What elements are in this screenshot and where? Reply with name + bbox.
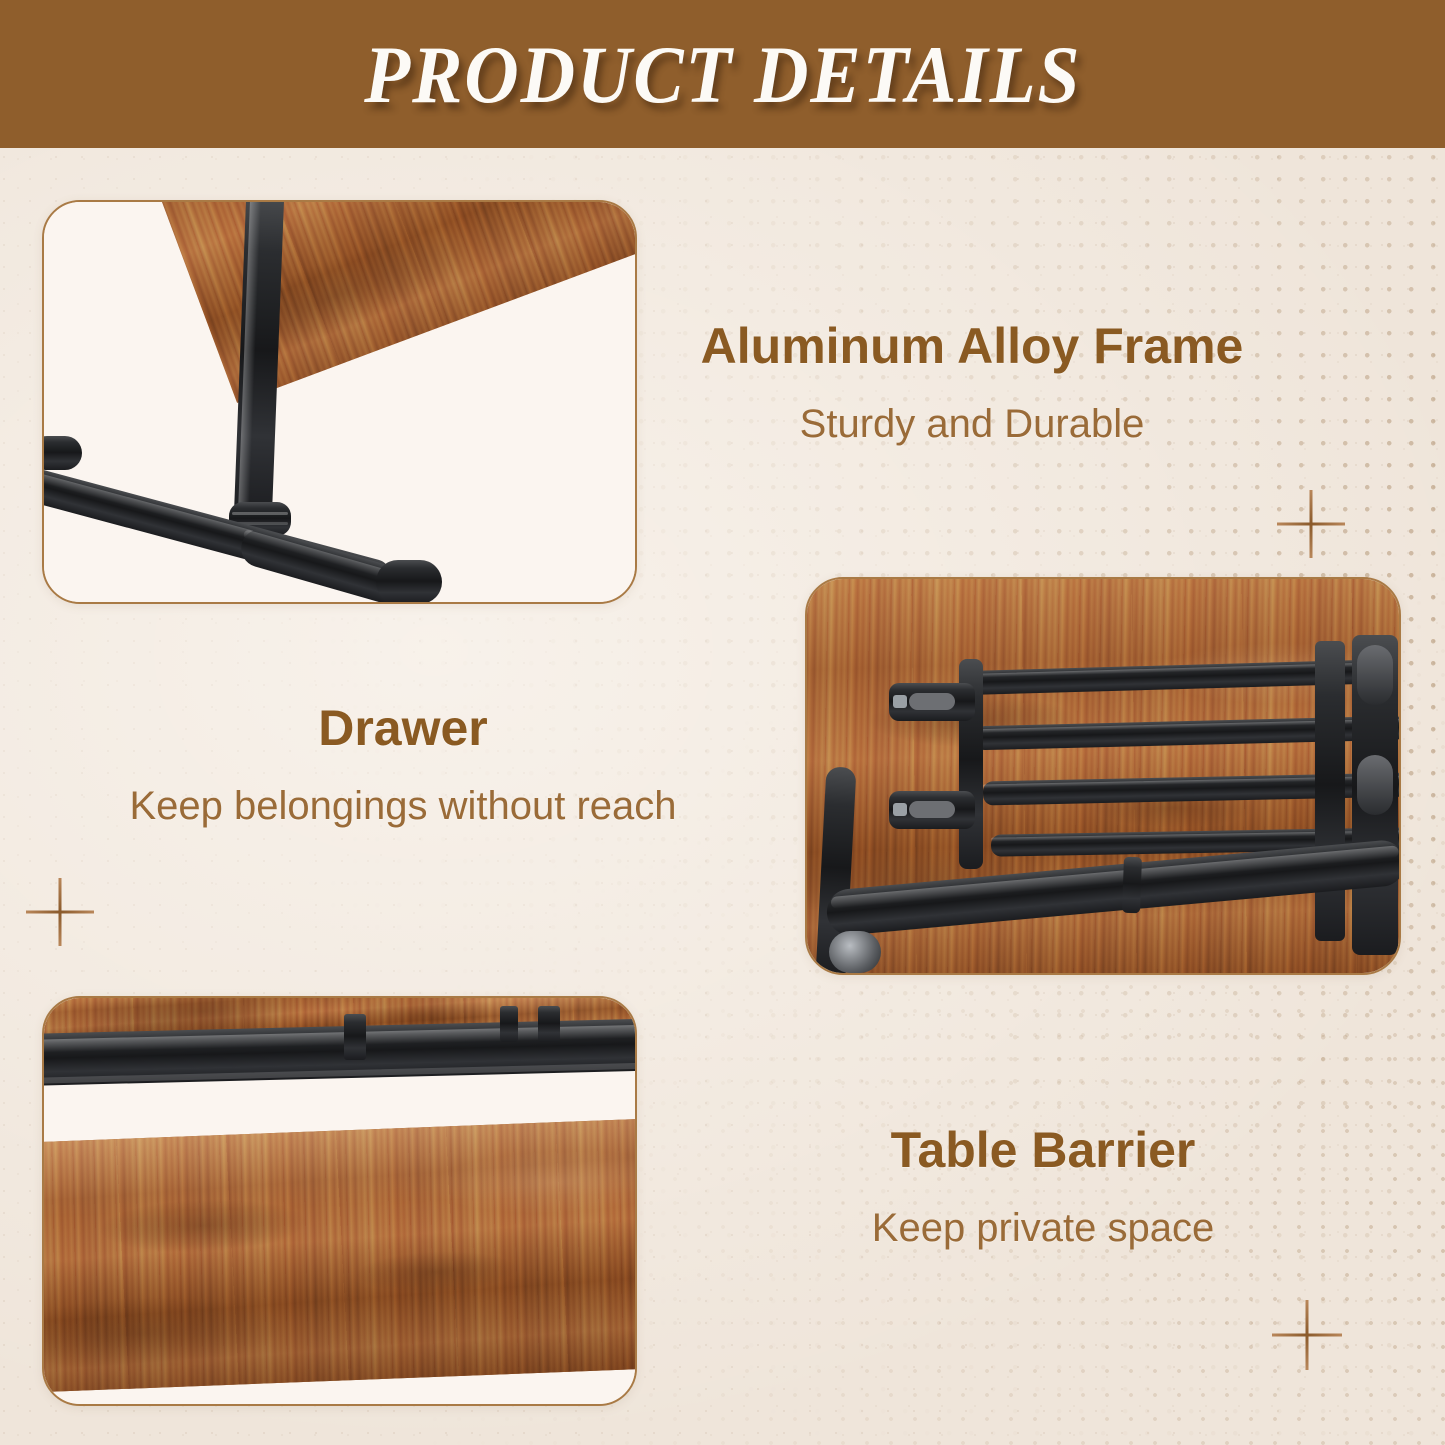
feature-subheading: Keep belongings without reach [22,782,784,830]
decorative-cross-icon [1272,1300,1342,1370]
tabletop-shading [44,1117,635,1393]
bracket-screw [893,695,907,708]
adjustment-knob [829,931,881,973]
feature-subheading: Sturdy and Durable [633,400,1311,448]
table-foot-cap [376,560,442,602]
feature-text-aluminum-alloy-frame: Aluminum Alloy Frame Sturdy and Durable [633,318,1311,448]
decorative-cross-icon [26,878,94,946]
mechanism-roller [1357,645,1393,705]
mechanism-roller [1357,755,1393,815]
feature-text-table-barrier: Table Barrier Keep private space [700,1122,1386,1252]
decorative-cross-icon [1277,490,1345,558]
header-banner: PRODUCT DETAILS [0,0,1445,148]
tabletop-highlight [132,202,635,403]
barrier-post [538,1006,560,1042]
barrier-post [500,1006,518,1042]
table-foot-cap [44,436,82,470]
barrier-post [344,1014,366,1060]
product-details-infographic: PRODUCT DETAILS [0,0,1445,1445]
feature-text-drawer: Drawer Keep belongings without reach [22,700,784,830]
collar-ring-line [232,512,288,515]
bracket-slot [909,693,955,710]
feature-photo-aluminum-alloy-frame [42,200,637,604]
feature-heading: Aluminum Alloy Frame [633,318,1311,374]
center-bracket-tab [1122,857,1142,914]
drawer-mechanism-vertical [1315,641,1345,941]
bracket-slot [909,801,955,818]
feature-heading: Drawer [22,700,784,756]
bracket-screw [893,803,907,816]
feature-photo-table-barrier [42,996,637,1406]
feature-heading: Table Barrier [700,1122,1386,1178]
feature-subheading: Keep private space [700,1204,1386,1252]
feature-photo-drawer [805,577,1401,975]
page-title: PRODUCT DETAILS [364,28,1081,122]
